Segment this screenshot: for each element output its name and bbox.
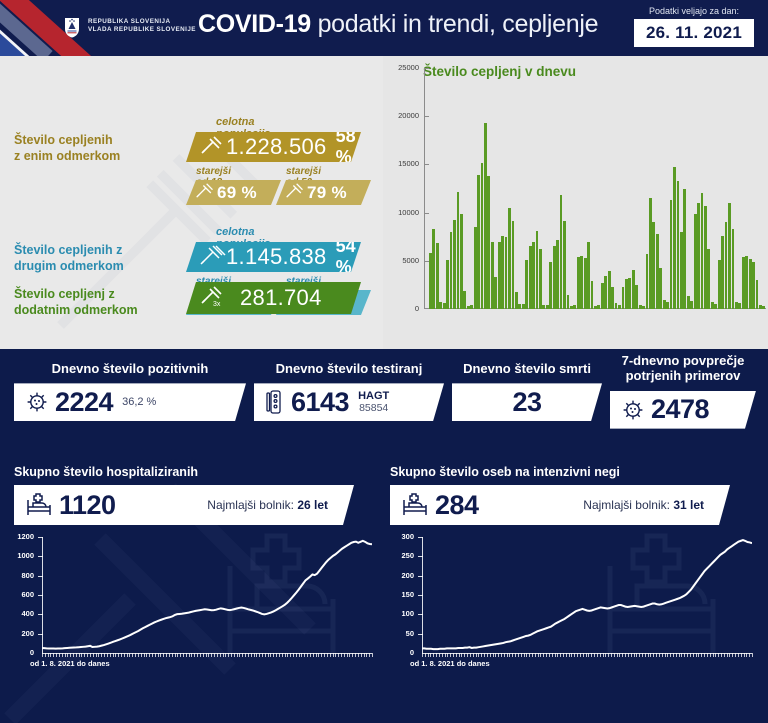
x-tick-mark <box>735 653 736 657</box>
x-tick-mark <box>273 653 274 657</box>
x-tick-mark <box>129 653 130 657</box>
x-tick-mark <box>648 653 649 657</box>
y-tick-label: 1200 <box>8 532 34 541</box>
x-tick-mark <box>436 653 437 657</box>
x-tick-mark <box>501 653 502 657</box>
bar <box>756 280 759 309</box>
x-tick-mark <box>214 653 215 657</box>
bar <box>718 260 721 309</box>
stat-title-line2: potrjenih primerov <box>626 368 741 383</box>
x-tick-mark <box>256 653 257 657</box>
x-tick-mark <box>453 653 454 657</box>
x-tick-mark <box>304 653 305 657</box>
bar <box>670 200 673 309</box>
x-tick-mark <box>316 653 317 657</box>
x-tick-mark <box>634 653 635 657</box>
x-tick-mark <box>107 653 108 657</box>
x-tick-mark <box>696 653 697 657</box>
bar <box>477 175 480 309</box>
y-tick-label: 300 <box>388 532 414 541</box>
x-tick-mark <box>752 653 753 657</box>
bar <box>752 262 755 309</box>
x-tick-mark <box>665 653 666 657</box>
y-tick-label: 50 <box>388 629 414 638</box>
x-tick-mark <box>73 653 74 657</box>
x-tick-mark <box>724 653 725 657</box>
x-tick-mark <box>169 653 170 657</box>
x-tick-mark <box>194 653 195 657</box>
y-tick-label: 0 <box>388 648 414 657</box>
bar <box>450 232 453 309</box>
x-tick-mark <box>555 653 556 657</box>
x-tick-mark <box>631 653 632 657</box>
x-tick-mark <box>59 653 60 657</box>
dose2-total-pct: 54 % <box>336 236 361 278</box>
x-tick-mark <box>166 653 167 657</box>
x-tick-mark <box>152 653 153 657</box>
x-tick-mark <box>614 653 615 657</box>
x-tick-mark <box>76 653 77 657</box>
y-tick-label: 150 <box>388 590 414 599</box>
x-tick-mark <box>318 653 319 657</box>
x-tick-mark <box>191 653 192 657</box>
bar <box>649 198 652 309</box>
x-tick-mark <box>549 653 550 657</box>
bar <box>594 306 597 309</box>
x-tick-mark <box>127 653 128 657</box>
syringe-icon <box>200 135 226 160</box>
x-tick-mark <box>279 653 280 657</box>
x-tick-mark <box>687 653 688 657</box>
hospitalized-trend-chart: 020040060080010001200 od 1. 8. 2021 do d… <box>0 531 380 691</box>
x-tick-mark <box>324 653 325 657</box>
bar <box>749 259 752 309</box>
bar <box>683 189 686 309</box>
x-tick-mark <box>327 653 328 657</box>
stat-sub-hagt: HAGT 85854 <box>358 391 389 414</box>
x-tick-mark <box>690 653 691 657</box>
x-tick-mark <box>470 653 471 657</box>
bar <box>505 237 508 309</box>
x-tick-mark <box>366 653 367 657</box>
x-tick-mark <box>428 653 429 657</box>
x-tick-mark <box>290 653 291 657</box>
bar <box>539 249 542 309</box>
bar <box>522 304 525 309</box>
x-tick-mark <box>622 653 623 657</box>
x-tick-mark <box>158 653 159 657</box>
x-tick-mark <box>526 653 527 657</box>
x-tick-mark <box>90 653 91 657</box>
infographic-page: REPUBLIKA SLOVENIJA VLADA REPUBLIKE SLOV… <box>0 0 768 723</box>
x-tick-mark <box>268 653 269 657</box>
x-tick-mark <box>422 653 423 657</box>
icu-trend-chart: 050100150200250300 od 1. 8. 2021 do dane… <box>380 531 768 691</box>
x-tick-mark <box>361 653 362 657</box>
x-tick-mark <box>625 653 626 657</box>
x-tick-mark <box>175 653 176 657</box>
x-tick-mark <box>172 653 173 657</box>
x-tick-mark <box>310 653 311 657</box>
x-tick-mark <box>656 653 657 657</box>
bar <box>632 270 635 309</box>
x-tick-mark <box>693 653 694 657</box>
stat-daily-tests: Dnevno število testiranj 6143 HAGT 85854 <box>254 361 444 421</box>
x-tick-mark <box>208 653 209 657</box>
x-tick-mark <box>155 653 156 657</box>
x-tick-mark <box>552 653 553 657</box>
stat-value: 23 <box>512 387 541 418</box>
x-tick-mark <box>741 653 742 657</box>
x-tick-mark <box>121 653 122 657</box>
icu-block: Skupno število oseb na intenzivni negi 2… <box>390 465 730 525</box>
bar <box>597 305 600 309</box>
x-tick-mark <box>732 653 733 657</box>
bar <box>725 222 728 309</box>
y-tick-label: 600 <box>8 590 34 599</box>
x-tick-mark <box>591 653 592 657</box>
x-tick-mark <box>653 653 654 657</box>
bar <box>467 306 470 309</box>
x-tick-mark <box>481 653 482 657</box>
bar <box>663 300 666 309</box>
x-tick-mark <box>42 653 43 657</box>
x-tick-mark <box>45 653 46 657</box>
bar <box>463 291 466 309</box>
vaccination-section: Število cepljenih z enim odmerkom celotn… <box>0 56 768 349</box>
x-tick-mark <box>115 653 116 657</box>
icu-title: Skupno število oseb na intenzivni negi <box>390 465 730 479</box>
x-tick-mark <box>586 653 587 657</box>
x-tick-mark <box>445 653 446 657</box>
x-tick-mark <box>577 653 578 657</box>
x-tick-mark <box>439 653 440 657</box>
x-tick-mark <box>715 653 716 657</box>
y-tick-label: 0 <box>8 648 34 657</box>
x-tick-mark <box>583 653 584 657</box>
x-tick-mark <box>87 653 88 657</box>
x-tick-mark <box>464 653 465 657</box>
bar <box>501 236 504 309</box>
gov-line-1: REPUBLIKA SLOVENIJA <box>88 18 196 26</box>
syringe-icon <box>285 182 307 204</box>
bar <box>529 246 532 309</box>
x-tick-mark <box>518 653 519 657</box>
gov-identity: REPUBLIKA SLOVENIJA VLADA REPUBLIKE SLOV… <box>88 18 196 35</box>
x-tick-mark <box>358 653 359 657</box>
bar <box>591 281 594 309</box>
hospital-bed-icon <box>401 492 429 518</box>
x-tick-mark <box>594 653 595 657</box>
header: REPUBLIKA SLOVENIJA VLADA REPUBLIKE SLOV… <box>0 0 768 56</box>
bar <box>738 303 741 309</box>
x-tick-mark <box>293 653 294 657</box>
dose2-label-line1: Število cepljenih z <box>14 243 122 257</box>
x-tick-mark <box>456 653 457 657</box>
icu-card: 284 Najmlajši bolnik: 31 let <box>390 485 730 525</box>
bar <box>429 253 432 309</box>
bar <box>656 234 659 309</box>
x-tick-mark <box>62 653 63 657</box>
page-title-rest: podatki in trendi, cepljenje <box>311 10 598 38</box>
x-tick-mark <box>48 653 49 657</box>
x-tick-mark <box>442 653 443 657</box>
dose1-sub1-pct: 79 % <box>307 183 347 203</box>
bar <box>601 283 604 309</box>
x-tick-mark <box>65 653 66 657</box>
x-tick-mark <box>84 653 85 657</box>
x-tick-mark <box>676 653 677 657</box>
y-tick-label: 25000 <box>385 63 419 72</box>
youngest-value: 26 let <box>297 498 328 512</box>
x-tick-mark <box>546 653 547 657</box>
x-tick-mark <box>110 653 111 657</box>
bar <box>639 305 642 309</box>
hospitalized-block: Skupno število hospitaliziranih 1120 Naj… <box>14 465 354 525</box>
hospitalized-title: Skupno število hospitaliziranih <box>14 465 354 479</box>
bar <box>443 303 446 309</box>
x-tick-mark <box>231 653 232 657</box>
bar <box>436 243 439 309</box>
bar <box>728 203 731 309</box>
slovenia-coat-of-arms-icon <box>64 17 80 38</box>
dose1-total-pct: 58 % <box>336 126 361 168</box>
x-tick-mark <box>619 653 620 657</box>
icu-value: 284 <box>435 490 479 521</box>
bar <box>721 236 724 309</box>
youngest-label: Najmlajši bolnik: <box>583 498 673 512</box>
x-tick-mark <box>670 653 671 657</box>
x-tick-mark <box>135 653 136 657</box>
dose2-label-line2: drugim odmerkom <box>14 259 124 273</box>
x-tick-mark <box>132 653 133 657</box>
x-tick-mark <box>642 653 643 657</box>
stat-title: Dnevno število testiranj <box>254 361 444 376</box>
bar <box>487 176 490 309</box>
x-tick-mark <box>228 653 229 657</box>
x-tick-mark <box>540 653 541 657</box>
y-tick-label: 400 <box>8 609 34 618</box>
bar <box>711 302 714 309</box>
dose3-label-line2: dodatnim odmerkom <box>14 303 138 317</box>
x-tick-mark <box>254 653 255 657</box>
x-tick-mark <box>144 653 145 657</box>
x-tick-mark <box>650 653 651 657</box>
x-tick-mark <box>515 653 516 657</box>
x-tick-mark <box>662 653 663 657</box>
bar <box>635 285 638 309</box>
bar <box>707 249 710 309</box>
x-tick-mark <box>217 653 218 657</box>
x-tick-mark <box>56 653 57 657</box>
x-tick-mark <box>206 653 207 657</box>
bar <box>714 304 717 309</box>
x-tick-mark <box>276 653 277 657</box>
x-tick-mark <box>461 653 462 657</box>
x-tick-mark <box>727 653 728 657</box>
x-tick-mark <box>163 653 164 657</box>
bar <box>701 193 704 309</box>
bar <box>498 242 501 309</box>
x-tick-mark <box>749 653 750 657</box>
bar <box>536 231 539 309</box>
y-tick-label: 10000 <box>385 208 419 217</box>
x-tick-mark <box>262 653 263 657</box>
x-tick-mark <box>338 653 339 657</box>
x-tick-mark <box>104 653 105 657</box>
x-tick-mark <box>713 653 714 657</box>
dose2-total-bar: 1.145.838 54 % <box>186 242 361 272</box>
x-tick-mark <box>186 653 187 657</box>
bar <box>460 214 463 309</box>
bar <box>560 195 563 309</box>
bar <box>481 163 484 309</box>
date-block: Podatki veljajo za dan: 26. 11. 2021 <box>634 6 754 47</box>
x-tick-mark <box>81 653 82 657</box>
dose1-total-bar: 1.228.506 58 % <box>186 132 361 162</box>
x-tick-mark <box>608 653 609 657</box>
dose2-label: Število cepljenih z drugim odmerkom <box>14 242 194 274</box>
x-tick-mark <box>355 653 356 657</box>
bar <box>652 222 655 309</box>
stat-card: 6143 HAGT 85854 <box>254 383 444 421</box>
bar <box>584 258 587 309</box>
x-tick-mark <box>98 653 99 657</box>
x-tick-mark <box>313 653 314 657</box>
x-tick-mark <box>574 653 575 657</box>
y-tick-label: 800 <box>8 571 34 580</box>
bar <box>446 260 449 309</box>
x-tick-mark <box>245 653 246 657</box>
bar <box>697 203 700 309</box>
dose1-sub1-bar: 79 % <box>276 180 371 205</box>
bar <box>525 260 528 309</box>
x-tick-mark <box>239 653 240 657</box>
x-tick-mark <box>543 653 544 657</box>
gov-line-2: VLADA REPUBLIKE SLOVENIJE <box>88 26 196 34</box>
bar <box>577 257 580 309</box>
bar <box>704 206 707 309</box>
x-tick-mark <box>673 653 674 657</box>
x-tick-mark <box>307 653 308 657</box>
x-tick-mark <box>259 653 260 657</box>
x-tick-mark <box>538 653 539 657</box>
bar <box>532 242 535 309</box>
x-tick-mark <box>493 653 494 657</box>
stat-title: Dnevno število pozitivnih <box>14 361 246 376</box>
x-tick-mark <box>433 653 434 657</box>
x-tick-mark <box>330 653 331 657</box>
x-tick-mark <box>569 653 570 657</box>
stat-value: 6143 <box>291 387 349 418</box>
x-tick-mark <box>532 653 533 657</box>
syringe-icon <box>195 182 217 204</box>
bar <box>556 240 559 309</box>
x-tick-mark <box>566 653 567 657</box>
stat-card: 2478 <box>610 391 756 429</box>
dose1-label-line2: z enim odmerkom <box>14 149 120 163</box>
stat-sub: 36,2 % <box>122 396 156 408</box>
bar <box>542 305 545 309</box>
bar <box>677 181 680 309</box>
virus-icon <box>621 398 645 422</box>
x-tick-mark <box>430 653 431 657</box>
x-tick-mark <box>234 653 235 657</box>
bar <box>573 305 576 309</box>
bar <box>735 302 738 309</box>
x-tick-mark <box>571 653 572 657</box>
x-tick-mark <box>118 653 119 657</box>
virus-icon <box>25 390 49 414</box>
stats-section: Dnevno število pozitivnih 2224 36,2 % Dn… <box>0 349 768 723</box>
x-tick-mark <box>476 653 477 657</box>
x-tick-mark <box>509 653 510 657</box>
bar <box>563 221 566 309</box>
bar <box>570 306 573 309</box>
x-tick-mark <box>450 653 451 657</box>
y-tick-label: 5000 <box>385 256 419 265</box>
x-tick-mark <box>639 653 640 657</box>
x-tick-mark <box>93 653 94 657</box>
x-tick-mark <box>369 653 370 657</box>
x-tick-mark <box>183 653 184 657</box>
y-tick-label: 250 <box>388 551 414 560</box>
x-tick-mark <box>698 653 699 657</box>
x-tick-mark <box>101 653 102 657</box>
bar <box>553 246 556 309</box>
x-tick-mark <box>659 653 660 657</box>
x-tick-mark <box>512 653 513 657</box>
x-tick-mark <box>211 653 212 657</box>
bar <box>666 302 669 309</box>
stat-value: 2224 <box>55 387 113 418</box>
x-tick-mark <box>349 653 350 657</box>
x-tick-mark <box>718 653 719 657</box>
hospitalized-card: 1120 Najmlajši bolnik: 26 let <box>14 485 354 525</box>
x-tick-mark <box>524 653 525 657</box>
x-tick-mark <box>146 653 147 657</box>
stat-title-line1: 7-dnevno povprečje <box>622 353 745 368</box>
x-tick-mark <box>67 653 68 657</box>
x-tick-mark <box>282 653 283 657</box>
dose3-bar: 3x 281.704 <box>186 282 361 314</box>
bar <box>687 296 690 309</box>
x-tick-mark <box>372 653 373 657</box>
x-tick-mark <box>341 653 342 657</box>
bar <box>549 262 552 309</box>
bar <box>518 304 521 309</box>
dose1-total-value: 1.228.506 <box>226 134 327 160</box>
x-tick-mark <box>347 653 348 657</box>
bar-chart-plot <box>429 68 766 309</box>
x-tick-mark <box>504 653 505 657</box>
bar <box>625 279 628 309</box>
bar <box>694 214 697 309</box>
y-tick-label: 1000 <box>8 551 34 560</box>
dose2-total-value: 1.145.838 <box>226 244 327 270</box>
x-tick-mark <box>529 653 530 657</box>
stat-card: 2224 36,2 % <box>14 383 246 421</box>
bar <box>642 306 645 309</box>
x-tick-mark <box>478 653 479 657</box>
y-tick-label: 0 <box>385 304 419 313</box>
youngest-value: 31 let <box>673 498 704 512</box>
x-tick-mark <box>200 653 201 657</box>
x-tick-mark <box>321 653 322 657</box>
chart-caption: od 1. 8. 2021 do danes <box>30 659 110 668</box>
x-tick-mark <box>473 653 474 657</box>
bar <box>608 271 611 309</box>
